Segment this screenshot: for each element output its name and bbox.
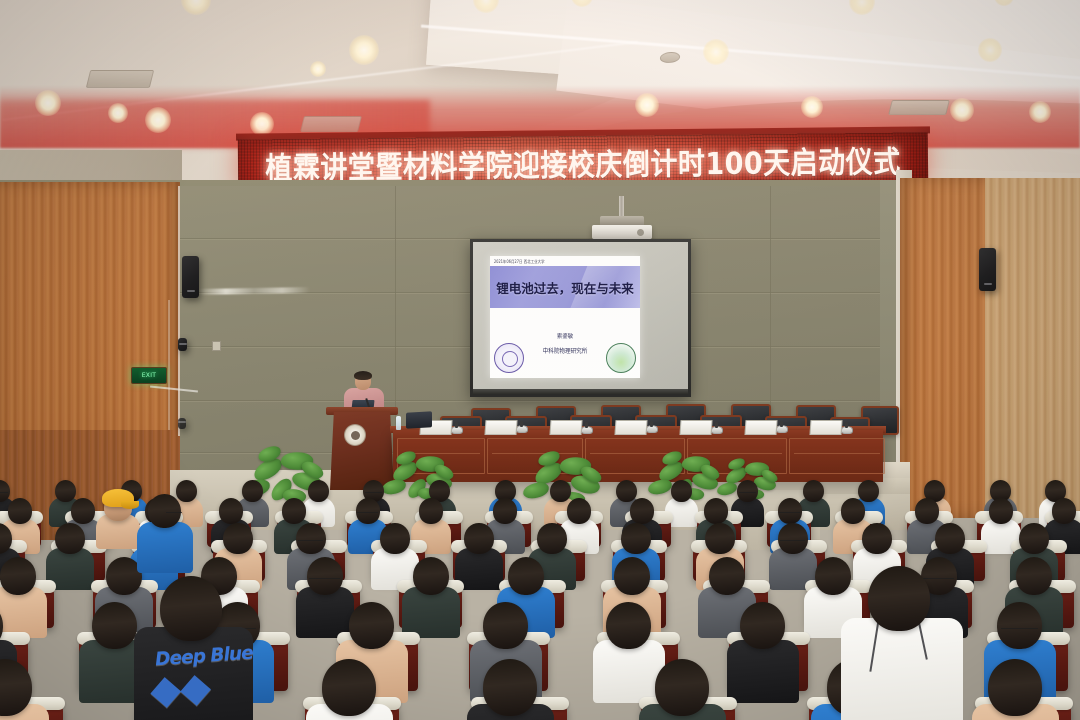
name-card-3 xyxy=(614,420,647,435)
person-head xyxy=(655,659,709,716)
slide-header: 2021年06月27日 西北工业大学 xyxy=(490,256,640,266)
audience-person xyxy=(464,523,494,585)
table-microphone-4 xyxy=(711,426,723,434)
wall-device-box xyxy=(178,338,187,351)
person-head xyxy=(508,557,544,595)
screen-bottom-bar xyxy=(473,389,688,394)
projection-screen: 2021年06月27日 西北工业大学 锂电池过去，现在与未来 索鎏敏 中科院物理… xyxy=(473,242,688,394)
plant-0 xyxy=(276,468,277,469)
name-card-4 xyxy=(679,420,712,435)
slide-title: 锂电池过去，现在与未来 xyxy=(496,278,634,297)
person-head xyxy=(483,602,528,649)
wood-wall-right-light xyxy=(985,178,1080,518)
person-torso xyxy=(296,587,354,638)
audience-person xyxy=(778,523,808,585)
person-head xyxy=(915,498,940,524)
person-head xyxy=(464,523,494,554)
name-card-5 xyxy=(744,420,777,435)
plant-3 xyxy=(678,470,679,471)
person-head xyxy=(841,498,866,524)
audience-person xyxy=(655,659,709,720)
slide-header-text: 2021年06月27日 西北工业大学 xyxy=(494,258,545,264)
projection-screen-frame: 2021年06月27日 西北工业大学 锂电池过去，现在与未来 索鎏敏 中科院物理… xyxy=(470,239,691,397)
downlight-6 xyxy=(703,39,729,65)
downlight-5 xyxy=(349,35,379,65)
person-head xyxy=(307,557,343,595)
person-head xyxy=(778,523,808,554)
person-torso xyxy=(727,640,800,704)
water-bottle xyxy=(396,416,401,430)
audience-person xyxy=(55,523,85,585)
person-head xyxy=(160,576,222,641)
person-head xyxy=(740,602,785,649)
person-head xyxy=(997,602,1042,649)
person-head xyxy=(567,498,592,524)
name-card-2 xyxy=(549,420,582,435)
person-head xyxy=(621,523,651,554)
eyeglasses xyxy=(1001,628,1039,631)
cap-brim xyxy=(121,501,138,509)
downlight-15 xyxy=(108,103,128,123)
audience-person xyxy=(740,602,785,696)
exit-sign-label: EXIT xyxy=(142,372,157,379)
audience-person-blue-shirt xyxy=(148,494,181,563)
name-card-6 xyxy=(809,420,842,435)
wall-device-box-2 xyxy=(178,418,186,429)
table-microphone-1 xyxy=(516,425,528,433)
downlight-12 xyxy=(801,96,823,118)
slide-title-band: 锂电池过去，现在与未来 xyxy=(490,266,640,308)
person-head xyxy=(413,557,449,595)
audience-person xyxy=(92,602,137,696)
person-head xyxy=(242,480,263,502)
table-microphone-2 xyxy=(581,426,593,434)
wall-socket xyxy=(212,341,221,351)
wall-speaker-right xyxy=(979,248,996,291)
person-head xyxy=(1019,523,1049,554)
shark-graphic-large: ◆◆ xyxy=(149,662,212,713)
plant-4 xyxy=(742,474,743,475)
downlight-16 xyxy=(310,61,326,77)
person-head xyxy=(322,659,376,716)
audience-person xyxy=(380,523,410,585)
person-head xyxy=(537,523,567,554)
downlight-13 xyxy=(950,98,974,122)
presentation-slide: 2021年06月27日 西北工业大学 锂电池过去，现在与未来 索鎏敏 中科院物理… xyxy=(490,256,640,378)
table-microphone-5 xyxy=(776,425,788,433)
table-microphone-6 xyxy=(841,426,853,434)
person-head xyxy=(380,523,410,554)
downlight-9 xyxy=(145,107,171,133)
audience-person-shark-tee: Deep Blue◆◆ xyxy=(160,576,222,706)
person-torso xyxy=(137,522,193,574)
person-head xyxy=(1016,557,1052,595)
person-head xyxy=(737,480,758,502)
university-seal-icon xyxy=(494,343,524,373)
audience-person xyxy=(322,659,376,720)
person-head xyxy=(219,498,244,524)
table-microphone-0 xyxy=(451,426,463,434)
slide-speaker-name: 索鎏敏 xyxy=(557,331,573,340)
eyeglasses xyxy=(309,578,339,581)
downlight-11 xyxy=(635,93,659,117)
person-head xyxy=(614,557,650,595)
person-head xyxy=(356,498,381,524)
plant-2 xyxy=(556,472,557,473)
wall-cable-vertical xyxy=(168,300,170,430)
slide-affiliation: 中科院物理研究所 xyxy=(543,346,588,355)
audience-person xyxy=(307,557,343,633)
person-head xyxy=(493,498,518,524)
person-head xyxy=(71,498,96,524)
person-head xyxy=(1052,498,1077,524)
person-head xyxy=(705,523,735,554)
institute-seal-icon xyxy=(606,343,636,373)
ceiling-projector xyxy=(592,225,652,239)
person-head xyxy=(935,523,965,554)
person-head xyxy=(55,523,85,554)
person-head xyxy=(709,557,745,595)
audience-person xyxy=(483,659,537,720)
exit-sign: EXIT xyxy=(131,367,167,384)
eyeglasses xyxy=(739,492,756,495)
eyeglasses xyxy=(0,492,8,495)
person-head xyxy=(483,659,537,716)
eyeglasses xyxy=(365,492,382,495)
downlight-7 xyxy=(978,38,1002,62)
person-head xyxy=(868,566,930,631)
person-head xyxy=(0,557,36,595)
podium-emblem-icon xyxy=(344,424,366,446)
person-torso xyxy=(0,587,47,638)
person-torso xyxy=(402,587,460,638)
person-head xyxy=(803,480,824,502)
eyeglasses xyxy=(166,512,182,515)
presenter-hair xyxy=(354,371,372,380)
head-table-panel-4 xyxy=(789,438,885,474)
audience-person xyxy=(671,480,692,524)
person-head xyxy=(296,523,326,554)
eyeglasses xyxy=(779,512,800,515)
audience-person-white-shirt xyxy=(868,566,930,696)
head-table xyxy=(393,430,883,482)
person-head xyxy=(778,498,803,524)
eyeglasses xyxy=(780,540,805,543)
wall-speaker-left xyxy=(182,256,199,298)
person-head xyxy=(815,557,851,595)
ceiling-vent-right xyxy=(888,100,950,115)
person-head xyxy=(671,480,692,502)
audience-person-yellow-cap xyxy=(104,489,132,548)
wall-cable-left xyxy=(178,186,180,436)
name-card-1 xyxy=(484,420,517,435)
person-torso xyxy=(841,618,964,720)
ceiling-vent-left xyxy=(86,70,154,88)
audience-person xyxy=(606,602,651,696)
person-head xyxy=(92,602,137,649)
auditorium-scene: 植霖讲堂暨材料学院迎接校庆倒计时100天启动仪式 EXIT 2021年06月27… xyxy=(0,0,1080,720)
plant-1 xyxy=(412,470,413,471)
audience-person xyxy=(988,659,1042,720)
eyeglasses xyxy=(298,540,323,543)
person-head xyxy=(606,602,651,649)
person-head xyxy=(349,602,394,649)
audience-person xyxy=(0,659,32,720)
person-head xyxy=(862,523,892,554)
podium xyxy=(330,412,394,490)
person-head xyxy=(308,480,329,502)
audience-person xyxy=(989,498,1014,550)
table-microphone-3 xyxy=(646,425,658,433)
person-head xyxy=(989,498,1014,524)
downlight-14 xyxy=(1029,101,1051,123)
side-monitor xyxy=(406,411,432,428)
person-head xyxy=(8,498,33,524)
audience-person xyxy=(413,557,449,633)
person-head xyxy=(704,498,729,524)
audience-person xyxy=(0,557,36,633)
downlight-8 xyxy=(35,90,61,116)
person-head xyxy=(988,659,1042,716)
slide-body: 索鎏敏 中科院物理研究所 xyxy=(490,308,640,378)
person-head xyxy=(282,498,307,524)
ceiling-vent-center xyxy=(300,116,362,132)
person-head xyxy=(419,498,444,524)
person-head xyxy=(223,523,253,554)
wall-seam-4 xyxy=(178,400,902,401)
eyeglasses xyxy=(357,512,378,515)
person-head xyxy=(630,498,655,524)
